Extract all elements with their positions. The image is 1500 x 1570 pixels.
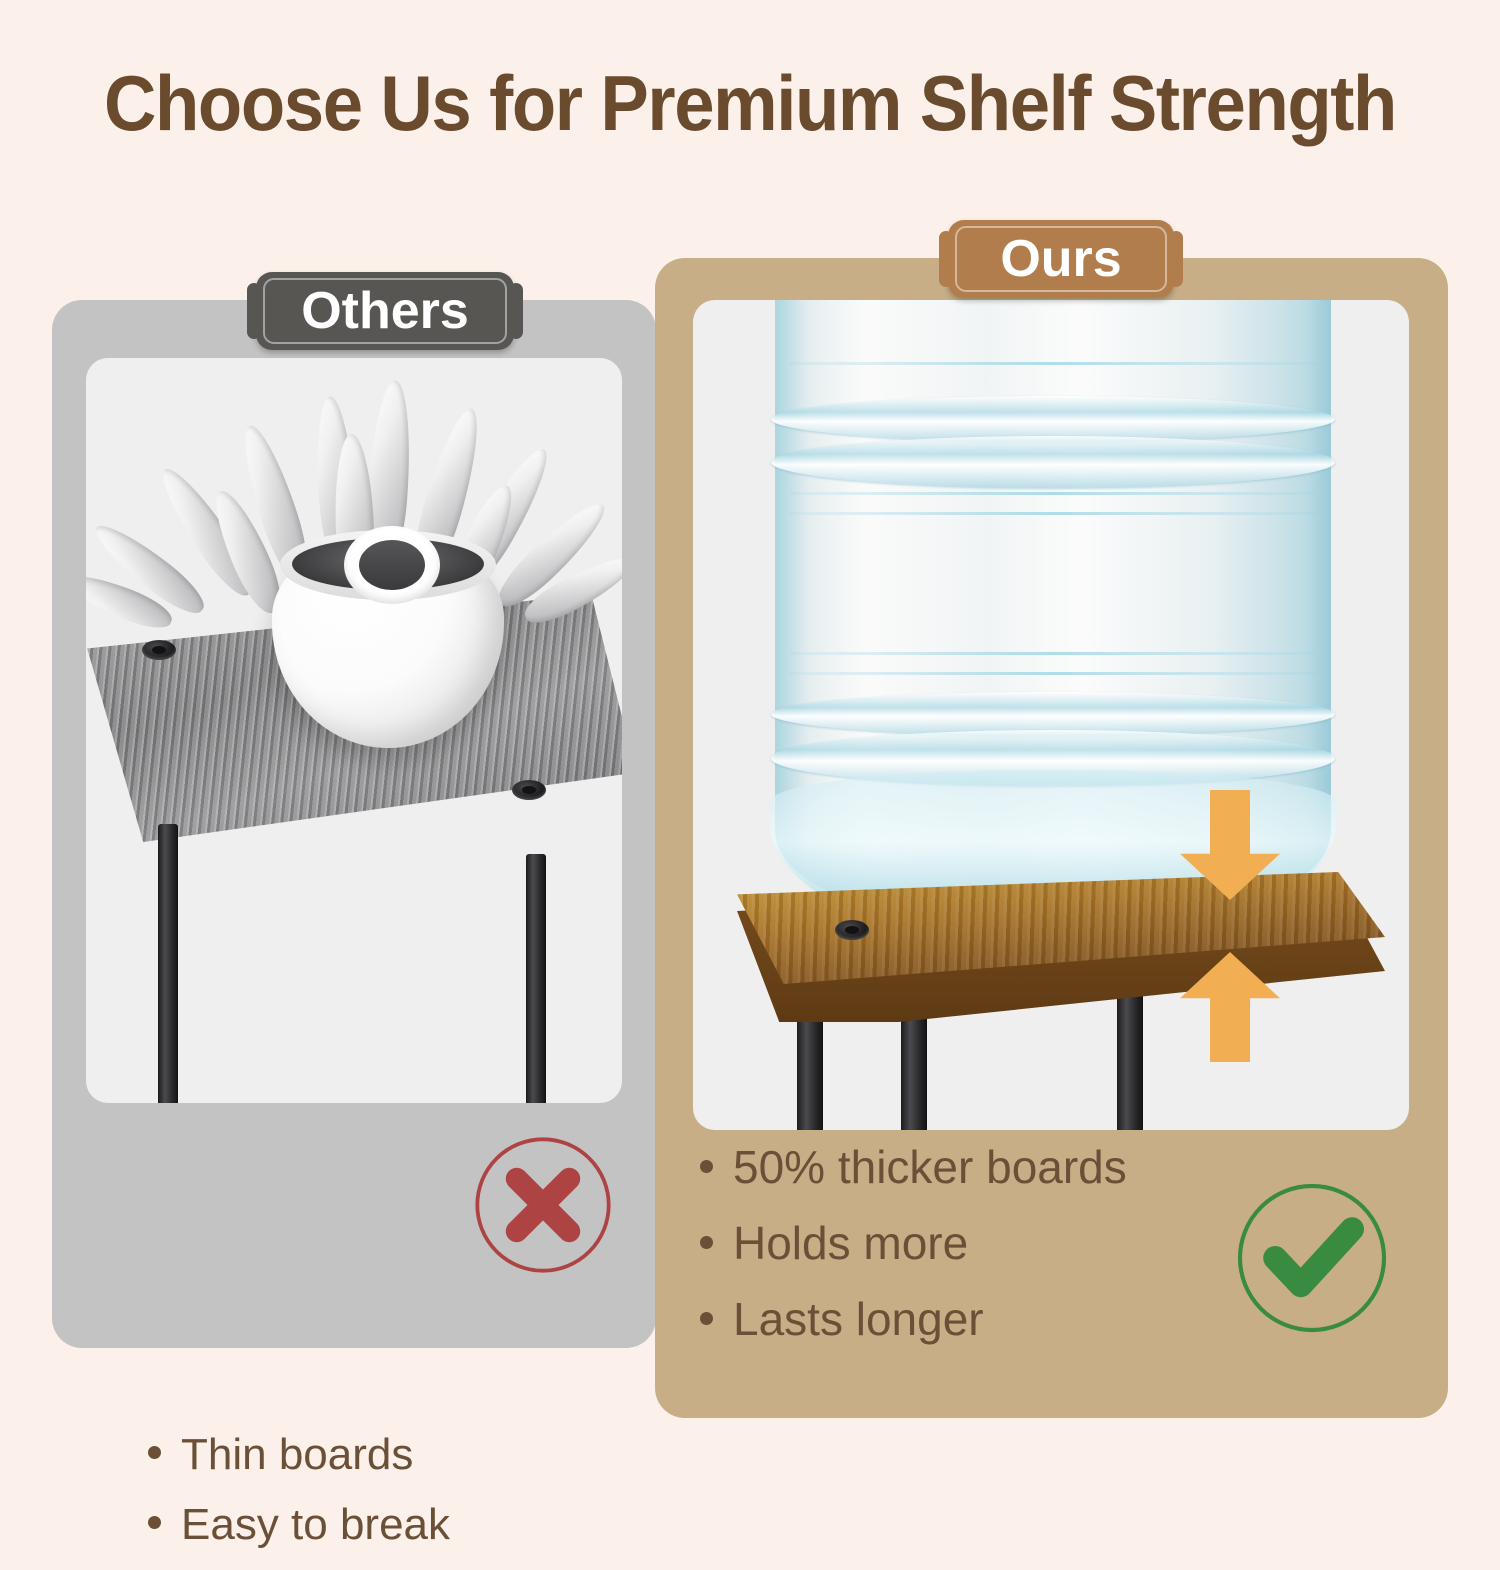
others-scene <box>86 358 622 1103</box>
list-item-label: Holds more <box>733 1216 968 1270</box>
shelf-leg <box>158 824 178 1103</box>
others-product-photo <box>86 358 622 1103</box>
shelf-grommet <box>512 780 546 800</box>
list-item: Holds more <box>700 1216 1260 1270</box>
bullet-dot-icon <box>148 1446 161 1459</box>
list-item: Thin boards <box>148 1430 508 1480</box>
page-title: Choose Us for Premium Shelf Strength <box>53 58 1448 149</box>
list-item: Lasts longer <box>700 1292 1260 1346</box>
badge-others-label: Others <box>301 281 469 341</box>
list-item: 50% thicker boards <box>700 1140 1260 1194</box>
badge-others: Others <box>256 272 514 350</box>
jug-ring <box>771 436 1335 488</box>
bullet-dot-icon <box>700 1312 713 1325</box>
list-item-label: Lasts longer <box>733 1292 984 1346</box>
ours-bullet-list: 50% thicker boards Holds more Lasts long… <box>700 1140 1260 1368</box>
list-item-label: 50% thicker boards <box>733 1140 1127 1194</box>
bullet-dot-icon <box>700 1160 713 1173</box>
pot-handle <box>344 526 440 604</box>
list-item-label: Thin boards <box>181 1430 413 1480</box>
check-icon <box>1232 1178 1392 1338</box>
list-item: Easy to break <box>148 1500 508 1550</box>
shelf-grommet <box>835 920 869 940</box>
others-bullet-list: Thin boards Easy to break <box>148 1430 508 1570</box>
ours-scene <box>693 300 1409 1130</box>
cross-icon <box>470 1132 616 1278</box>
shelf-leg <box>526 854 546 1103</box>
badge-ours-label: Ours <box>1000 229 1121 289</box>
bullet-dot-icon <box>700 1236 713 1249</box>
shelf-grommet <box>142 640 176 660</box>
list-item-label: Easy to break <box>181 1500 450 1550</box>
badge-ours: Ours <box>948 220 1174 298</box>
ours-product-photo <box>693 300 1409 1130</box>
bullet-dot-icon <box>148 1516 161 1529</box>
